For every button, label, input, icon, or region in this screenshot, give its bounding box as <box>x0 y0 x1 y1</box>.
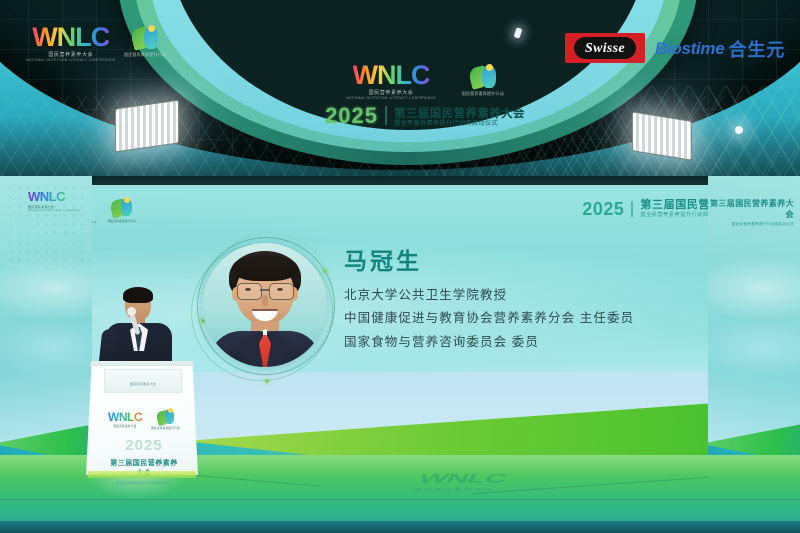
speaker-info-block: 马冠生 北京大学公共卫生学院教授 中国健康促进与教育协会营养素养分会 主任委员 … <box>344 250 744 349</box>
floor-logo-graphic: WNLC 国民营养素养大会 <box>416 472 713 485</box>
portrait-ring-dot-3 <box>265 379 269 383</box>
podium-plate-text: 国民营养素养大会 <box>105 382 181 386</box>
figure-leaf-icon <box>470 65 496 89</box>
spot-light-right <box>735 126 743 134</box>
podium-figure-leaf-icon <box>157 409 174 425</box>
speaker-title-1: 北京大学公共卫生学院教授 <box>344 288 744 302</box>
figure-logo-subtitle: 国民营养素养提升行动 <box>462 91 504 97</box>
podium-figure-subtitle: 国民营养素养提升行动 <box>151 426 180 430</box>
portrait-glasses-right <box>269 283 294 300</box>
arch-title-sub: 暨全民营养素养提升行动周启动仪式 <box>394 121 525 128</box>
speaker-title-2: 中国健康促进与教育协会营养素养分会 主任委员 <box>344 311 744 325</box>
hall-wnlc-logo: WNLC 国民营养素养大会 NATIONAL NUTRITION LITERAC… <box>26 24 116 62</box>
sponsor-logo-swisse: Swisse <box>565 33 645 63</box>
right-side-wall: 第三届国民营养素养大会 暨全民营养素养提升行动周启动仪式 <box>708 176 800 476</box>
microphone-head-icon <box>127 307 136 316</box>
biostime-wordmark-cn: 合生元 <box>728 36 785 62</box>
swisse-pill: Swisse <box>574 37 636 59</box>
hall-wnlc-wordmark: WNLC <box>32 24 109 51</box>
podium-year: 2025 <box>108 437 180 454</box>
wall-figure-logo-subtitle: 国民营养素养提升行动 <box>108 219 136 223</box>
podium-name-plate: 国民营养素养大会 <box>104 369 182 393</box>
podium-title-sub: 暨全民营养素养提升行动周启动仪式 <box>108 480 180 485</box>
wall-title-divider <box>631 201 633 217</box>
right-wall-title-sub: 暨全民营养素养提升行动周启动仪式 <box>708 222 794 227</box>
podium-and-speaker: 国民营养素养大会 WNLC 国民营养素养大会 国民营养素养提升行动 2025 第… <box>78 285 202 475</box>
arch-title-block: 2025 第三届国民营养素养大会 暨全民营养素养提升行动周启动仪式 <box>325 105 525 127</box>
podium-top-surface <box>86 361 198 366</box>
wnlc-wordmark: WNLC <box>353 62 430 89</box>
right-wall-wave-2 <box>708 316 800 380</box>
hall-figure-logo-subtitle: 国民营养素养提升行动 <box>124 52 166 58</box>
wnlc-subtitle-en: NATIONAL NUTRITION LITERACY CONFERENCE <box>346 97 436 100</box>
hall-figure-leaf-icon <box>132 26 158 50</box>
speaker-portrait-frame <box>203 243 327 367</box>
stage-blinder-light-left <box>115 100 179 153</box>
stage-front-edge <box>0 521 800 533</box>
speaker-name: 马冠生 <box>344 250 744 273</box>
wall-figure-logo: 国民营养素养提升行动 <box>108 198 136 223</box>
arch-logo-row: WNLC 国民营养素养大会 NATIONAL NUTRITION LITERAC… <box>346 62 504 100</box>
left-wall-wnlc-wordmark: WNLC <box>28 190 80 203</box>
wall-title-year: 2025 <box>582 200 624 218</box>
hall-wnlc-subtitle-en: NATIONAL NUTRITION LITERACY CONFERENCE <box>26 59 116 62</box>
arch-year: 2025 <box>325 105 378 127</box>
speaker-portrait-photo <box>203 243 327 367</box>
wnlc-logo-arch: WNLC 国民营养素养大会 NATIONAL NUTRITION LITERAC… <box>346 62 436 100</box>
arch-title-divider <box>385 106 387 125</box>
portrait-glasses-left <box>237 283 262 300</box>
right-wall-title-block: 第三届国民营养素养大会 暨全民营养素养提升行动周启动仪式 <box>708 198 794 227</box>
stage-photo: WNLC 国民营养素养大会 NATIONAL NUTRITION LITERAC… <box>0 0 800 533</box>
podium-wnlc-wordmark: WNLC <box>108 411 142 423</box>
podium-base-strip <box>88 471 196 478</box>
sponsor-logo-biostime: Biostime 合生元 <box>655 36 785 62</box>
left-wall-wnlc-subtitle: 国民营养素养大会 <box>28 205 80 209</box>
swisse-wordmark: Swisse <box>585 41 625 56</box>
presenter-hair <box>123 287 153 303</box>
wall-top-trim <box>0 176 800 185</box>
biostime-wordmark-en: Biostime <box>655 39 724 59</box>
podium-wnlc-subtitle: 国民营养素养大会 <box>113 424 136 428</box>
nutrition-figure-logo-arch: 国民营养素养提升行动 <box>462 65 504 97</box>
arch-banner-content: WNLC 国民营养素养大会 NATIONAL NUTRITION LITERAC… <box>300 62 550 134</box>
wall-figure-leaf-icon <box>111 198 132 217</box>
arch-title-main: 第三届国民营养素养大会 <box>394 108 525 120</box>
right-wall-wave-1 <box>708 254 800 324</box>
speaker-title-list: 北京大学公共卫生学院教授 中国健康促进与教育协会营养素养分会 主任委员 国家食物… <box>344 288 744 349</box>
left-wall-wnlc-subtitle-en: NATIONAL NUTRITION LITERACY CONFERENCE <box>28 210 80 212</box>
right-wall-title-main: 第三届国民营养素养大会 <box>708 198 794 220</box>
hall-figure-logo: 国民营养素养提升行动 <box>124 26 166 58</box>
podium-logo-row: WNLC 国民营养素养大会 国民营养素养提升行动 <box>108 409 180 430</box>
speaker-title-3: 国家食物与营养咨询委员会 委员 <box>344 335 744 349</box>
left-wall-wnlc-logo: WNLC 国民营养素养大会 NATIONAL NUTRITION LITERAC… <box>28 190 80 212</box>
